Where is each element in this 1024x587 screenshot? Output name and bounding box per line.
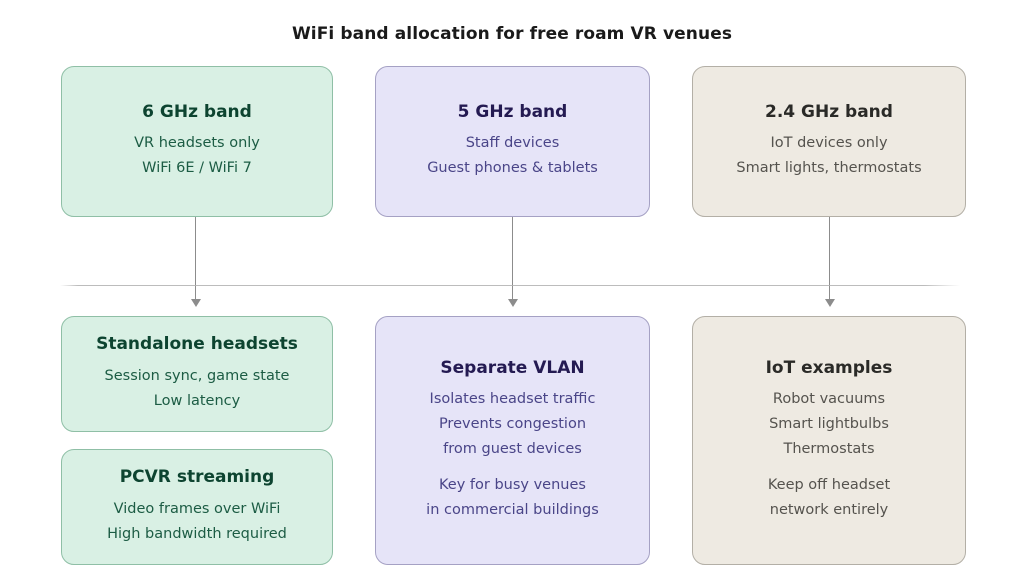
detail-card-iot[interactable]: IoT examples Robot vacuums Smart lightbu…	[692, 316, 966, 565]
detail-card-pcvr-title: PCVR streaming	[120, 467, 275, 487]
detail-card-vlan-line-1: Isolates headset traffic	[430, 387, 596, 412]
detail-card-vlan-group-2: Key for busy venues in commercial buildi…	[426, 473, 599, 523]
band-card-24ghz-lines: IoT devices only Smart lights, thermosta…	[736, 131, 921, 181]
band-card-24ghz-line-2: Smart lights, thermostats	[736, 156, 921, 181]
band-card-6ghz-line-2: WiFi 6E / WiFi 7	[134, 156, 260, 181]
diagram-canvas: WiFi band allocation for free roam VR ve…	[0, 0, 1024, 587]
band-card-6ghz-line-1: VR headsets only	[134, 131, 260, 156]
arrow-shaft	[195, 217, 196, 300]
arrow-24ghz-to-iot-icon	[823, 217, 837, 307]
detail-card-standalone-line-2: Low latency	[105, 389, 290, 414]
detail-card-standalone[interactable]: Standalone headsets Session sync, game s…	[61, 316, 333, 432]
band-card-24ghz[interactable]: 2.4 GHz band IoT devices only Smart ligh…	[692, 66, 966, 217]
detail-card-pcvr-line-2: High bandwidth required	[107, 522, 287, 547]
detail-card-iot-line-5: network entirely	[768, 498, 890, 523]
band-card-6ghz-title: 6 GHz band	[142, 102, 252, 122]
band-card-5ghz-line-2: Guest phones & tablets	[427, 156, 598, 181]
detail-card-pcvr-group-1: Video frames over WiFi High bandwidth re…	[107, 497, 287, 547]
arrow-shaft	[512, 217, 513, 300]
band-card-6ghz-lines: VR headsets only WiFi 6E / WiFi 7	[134, 131, 260, 181]
arrow-shaft	[829, 217, 830, 300]
detail-card-iot-line-2: Smart lightbulbs	[769, 412, 889, 437]
detail-card-standalone-title: Standalone headsets	[96, 334, 298, 354]
detail-card-iot-title: IoT examples	[766, 358, 893, 378]
detail-card-pcvr[interactable]: PCVR streaming Video frames over WiFi Hi…	[61, 449, 333, 565]
detail-card-iot-line-4: Keep off headset	[768, 473, 890, 498]
arrow-6ghz-to-standalone-icon	[189, 217, 203, 307]
band-card-5ghz[interactable]: 5 GHz band Staff devices Guest phones & …	[375, 66, 650, 217]
detail-card-vlan-line-4: Key for busy venues	[426, 473, 599, 498]
arrow-head	[825, 299, 835, 307]
detail-card-vlan-line-2: Prevents congestion	[430, 412, 596, 437]
detail-card-vlan-line-3: from guest devices	[430, 437, 596, 462]
section-divider	[60, 285, 960, 286]
band-card-6ghz[interactable]: 6 GHz band VR headsets only WiFi 6E / Wi…	[61, 66, 333, 217]
detail-card-iot-line-3: Thermostats	[769, 437, 889, 462]
band-card-5ghz-lines: Staff devices Guest phones & tablets	[427, 131, 598, 181]
detail-card-standalone-group-1: Session sync, game state Low latency	[105, 364, 290, 414]
page-title: WiFi band allocation for free roam VR ve…	[0, 24, 1024, 44]
detail-card-vlan-title: Separate VLAN	[440, 358, 584, 378]
detail-card-iot-line-1: Robot vacuums	[769, 387, 889, 412]
arrow-head	[508, 299, 518, 307]
detail-card-vlan-line-5: in commercial buildings	[426, 498, 599, 523]
detail-card-vlan[interactable]: Separate VLAN Isolates headset traffic P…	[375, 316, 650, 565]
band-card-24ghz-line-1: IoT devices only	[736, 131, 921, 156]
detail-card-iot-group-1: Robot vacuums Smart lightbulbs Thermosta…	[769, 387, 889, 462]
detail-card-pcvr-line-1: Video frames over WiFi	[107, 497, 287, 522]
band-card-24ghz-title: 2.4 GHz band	[765, 102, 893, 122]
detail-card-iot-group-2: Keep off headset network entirely	[768, 473, 890, 523]
band-card-5ghz-line-1: Staff devices	[427, 131, 598, 156]
arrow-head	[191, 299, 201, 307]
detail-card-standalone-line-1: Session sync, game state	[105, 364, 290, 389]
band-card-5ghz-title: 5 GHz band	[458, 102, 568, 122]
arrow-5ghz-to-vlan-icon	[506, 217, 520, 307]
detail-card-vlan-group-1: Isolates headset traffic Prevents conges…	[430, 387, 596, 462]
